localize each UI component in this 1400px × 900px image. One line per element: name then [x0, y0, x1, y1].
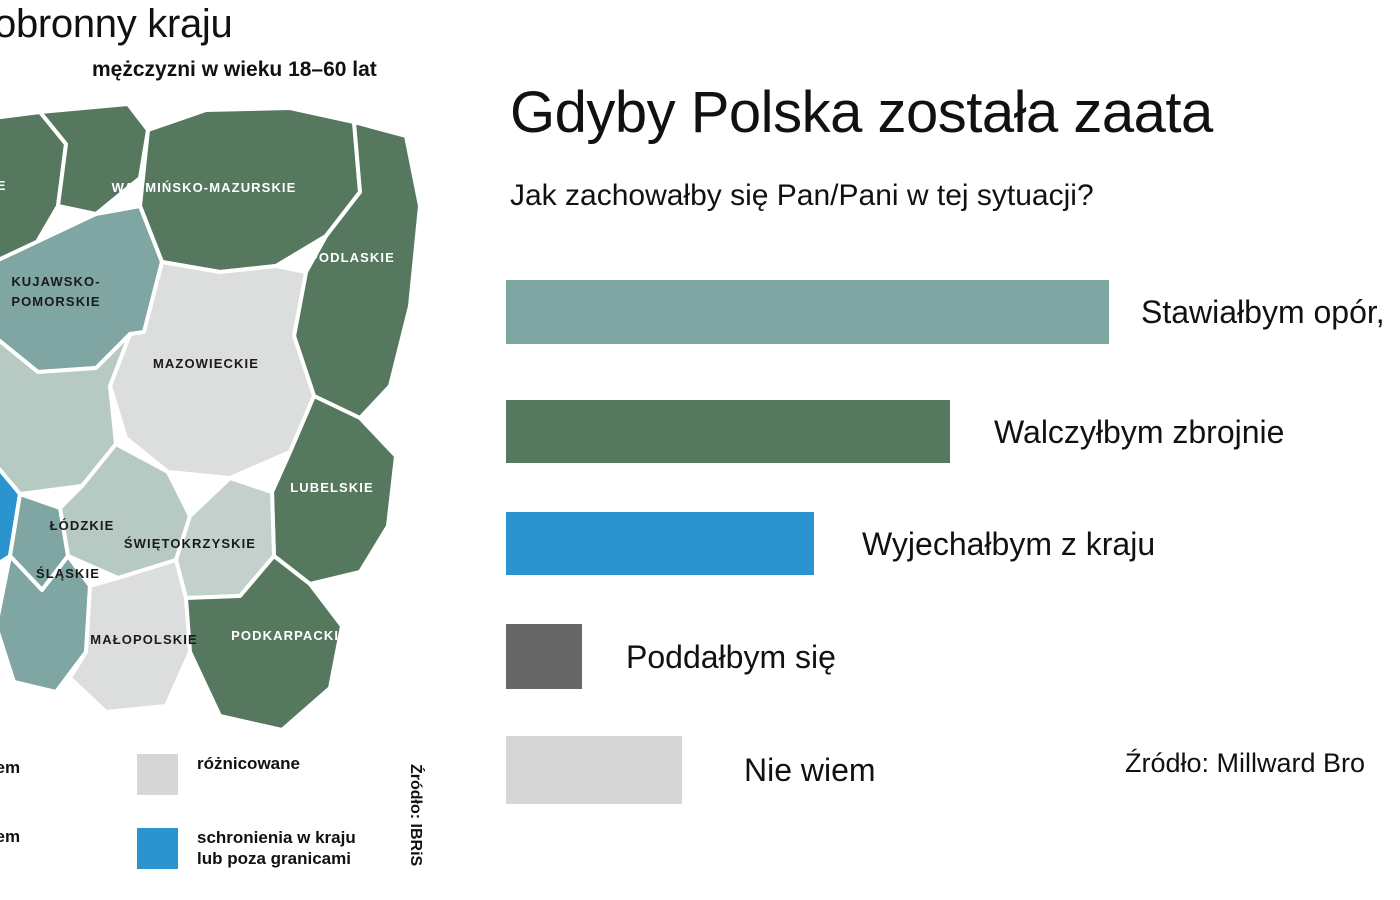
bar-1[interactable]	[506, 400, 950, 463]
bar-label-4: Nie wiem	[744, 754, 876, 786]
infographic-canvas: obronny kraju mężczyzni w wieku 18–60 la…	[0, 0, 1400, 900]
map-legend: odsetkiem owych odsetkiem różnicowane sc…	[0, 752, 470, 900]
map-title: obronny kraju	[0, 2, 232, 47]
bar-0[interactable]	[506, 280, 1109, 344]
map-legend-swatch-blue	[137, 828, 178, 869]
map-legend-item-roznicowane[interactable]: różnicowane	[137, 754, 300, 795]
map-legend-left-texts: odsetkiem owych odsetkiem	[0, 758, 86, 848]
map-legend-left-item-1-line1: odsetkiem	[0, 827, 86, 848]
bar-row-4[interactable]: Nie wiem	[506, 736, 876, 804]
map-legend-left-item-1: odsetkiem	[0, 827, 86, 848]
map-legend-label-roznicowane-line1: różnicowane	[197, 754, 300, 775]
chart-source-label: Źródło: Millward Bro	[1125, 748, 1365, 779]
map-legend-label-schronienia-line1: schronienia w kraju	[197, 828, 356, 849]
poland-map: KIE WARMIŃSKO-MAZURSKIE PODLASKIE KUJAWS…	[0, 86, 450, 756]
bar-4[interactable]	[506, 736, 682, 804]
map-legend-left-item-0-line2: owych	[0, 779, 86, 800]
map-source-label: Źródło: IBRiS	[406, 764, 424, 866]
bar-row-2[interactable]: Wyjechałbym z kraju	[506, 512, 1155, 575]
map-legend-label-schronienia-line2: lub poza granicami	[197, 849, 356, 870]
bar-label-2: Wyjechałbym z kraju	[862, 528, 1155, 560]
bar-label-3: Poddałbym się	[626, 641, 836, 673]
bar-row-0[interactable]: Stawiałbym opór,	[506, 280, 1385, 344]
map-subtitle: mężczyzni w wieku 18–60 lat	[92, 58, 377, 82]
map-legend-label-schronienia: schronienia w kraju lub poza granicami	[197, 828, 356, 869]
bar-row-1[interactable]: Walczyłbym zbrojnie	[506, 400, 1284, 463]
bar-3[interactable]	[506, 624, 582, 689]
map-legend-label-roznicowane: różnicowane	[197, 754, 300, 775]
map-legend-left-item-0: odsetkiem owych	[0, 758, 86, 799]
chart-panel: Gdyby Polska została zaata Jak zachowałb…	[470, 0, 1400, 900]
bar-2[interactable]	[506, 512, 814, 575]
bar-label-0: Stawiałbym opór,	[1141, 296, 1385, 328]
bar-row-3[interactable]: Poddałbym się	[506, 624, 836, 689]
map-panel: obronny kraju mężczyzni w wieku 18–60 la…	[0, 0, 470, 900]
map-legend-swatch-gray	[137, 754, 178, 795]
bar-label-1: Walczyłbym zbrojnie	[994, 416, 1284, 448]
map-legend-item-schronienia[interactable]: schronienia w kraju lub poza granicami	[137, 828, 356, 869]
map-legend-left-item-0-line1: odsetkiem	[0, 758, 86, 779]
poland-map-svg: KIE WARMIŃSKO-MAZURSKIE PODLASKIE KUJAWS…	[0, 86, 450, 756]
